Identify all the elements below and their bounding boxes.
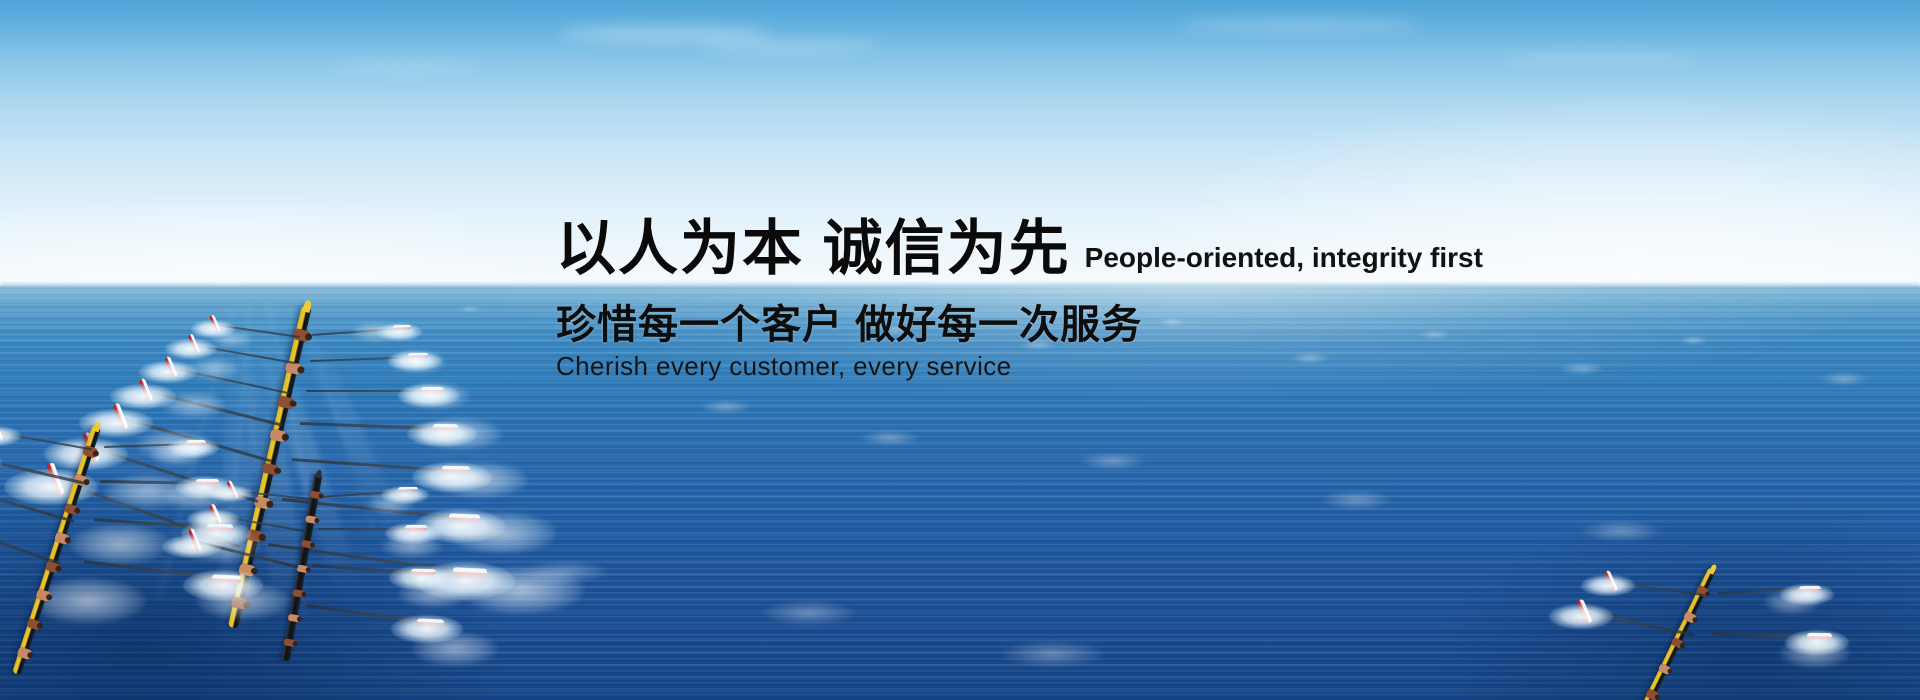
whitecap	[1000, 640, 1106, 668]
rower-head	[314, 518, 320, 524]
water-foam	[1764, 590, 1820, 614]
water-foam	[418, 418, 502, 450]
rower-head	[258, 534, 266, 542]
whitecap	[1820, 372, 1868, 386]
whitecap	[760, 600, 858, 626]
whitecap	[1680, 336, 1708, 345]
subtitle-chinese: 珍惜每一个客户 做好每一次服务	[556, 302, 1656, 348]
water-foam	[70, 524, 170, 564]
rower-head	[292, 641, 298, 647]
water-foam	[382, 534, 442, 558]
water-foam	[352, 322, 398, 342]
whitecap	[460, 306, 480, 312]
water-foam	[212, 330, 252, 348]
water-foam	[432, 462, 528, 498]
whitecap	[860, 430, 920, 446]
cloud-wisp	[330, 62, 480, 72]
water-splash	[139, 361, 197, 383]
cloud-wisp	[700, 40, 880, 52]
whitecap	[1580, 520, 1662, 542]
cloud-wisp	[1180, 18, 1420, 32]
cloud-wisp	[1500, 52, 1700, 64]
water-splash	[165, 339, 217, 359]
water-foam	[398, 580, 470, 608]
whitecap	[700, 400, 752, 414]
cloud-wisp	[560, 26, 770, 42]
rower-head	[297, 366, 305, 374]
water-foam	[366, 494, 414, 514]
water-foam	[412, 632, 498, 666]
subtitle-english: Cherish every customer, every service	[556, 350, 1656, 382]
rower-head	[310, 542, 316, 548]
rower-head	[301, 591, 307, 597]
rower-head	[266, 500, 274, 508]
whitecap	[1080, 452, 1146, 470]
rower-head	[297, 616, 303, 622]
slogan-block: 以人为本 诚信为先 People-oriented, integrity fir…	[556, 218, 1656, 382]
rower-head	[305, 567, 311, 573]
water-foam	[446, 512, 556, 554]
water-foam	[150, 444, 204, 466]
headline-row: 以人为本 诚信为先 People-oriented, integrity fir…	[556, 218, 1656, 280]
water-foam	[400, 382, 470, 410]
water-foam	[1780, 638, 1850, 668]
water-foam	[188, 358, 240, 380]
water-splash	[187, 509, 239, 529]
hero-banner: 以人为本 诚信为先 People-oriented, integrity fir…	[0, 0, 1920, 700]
whitecap	[1320, 490, 1394, 510]
whitecap	[520, 560, 610, 584]
water-foam	[388, 350, 446, 374]
headline-chinese: 以人为本 诚信为先	[556, 218, 1071, 280]
water-splash	[162, 535, 222, 558]
water-foam	[162, 392, 226, 418]
water-foam	[196, 582, 290, 620]
headline-english: People-oriented, integrity first	[1085, 241, 1483, 280]
rower-head	[1654, 694, 1661, 700]
rower-head	[281, 433, 289, 441]
